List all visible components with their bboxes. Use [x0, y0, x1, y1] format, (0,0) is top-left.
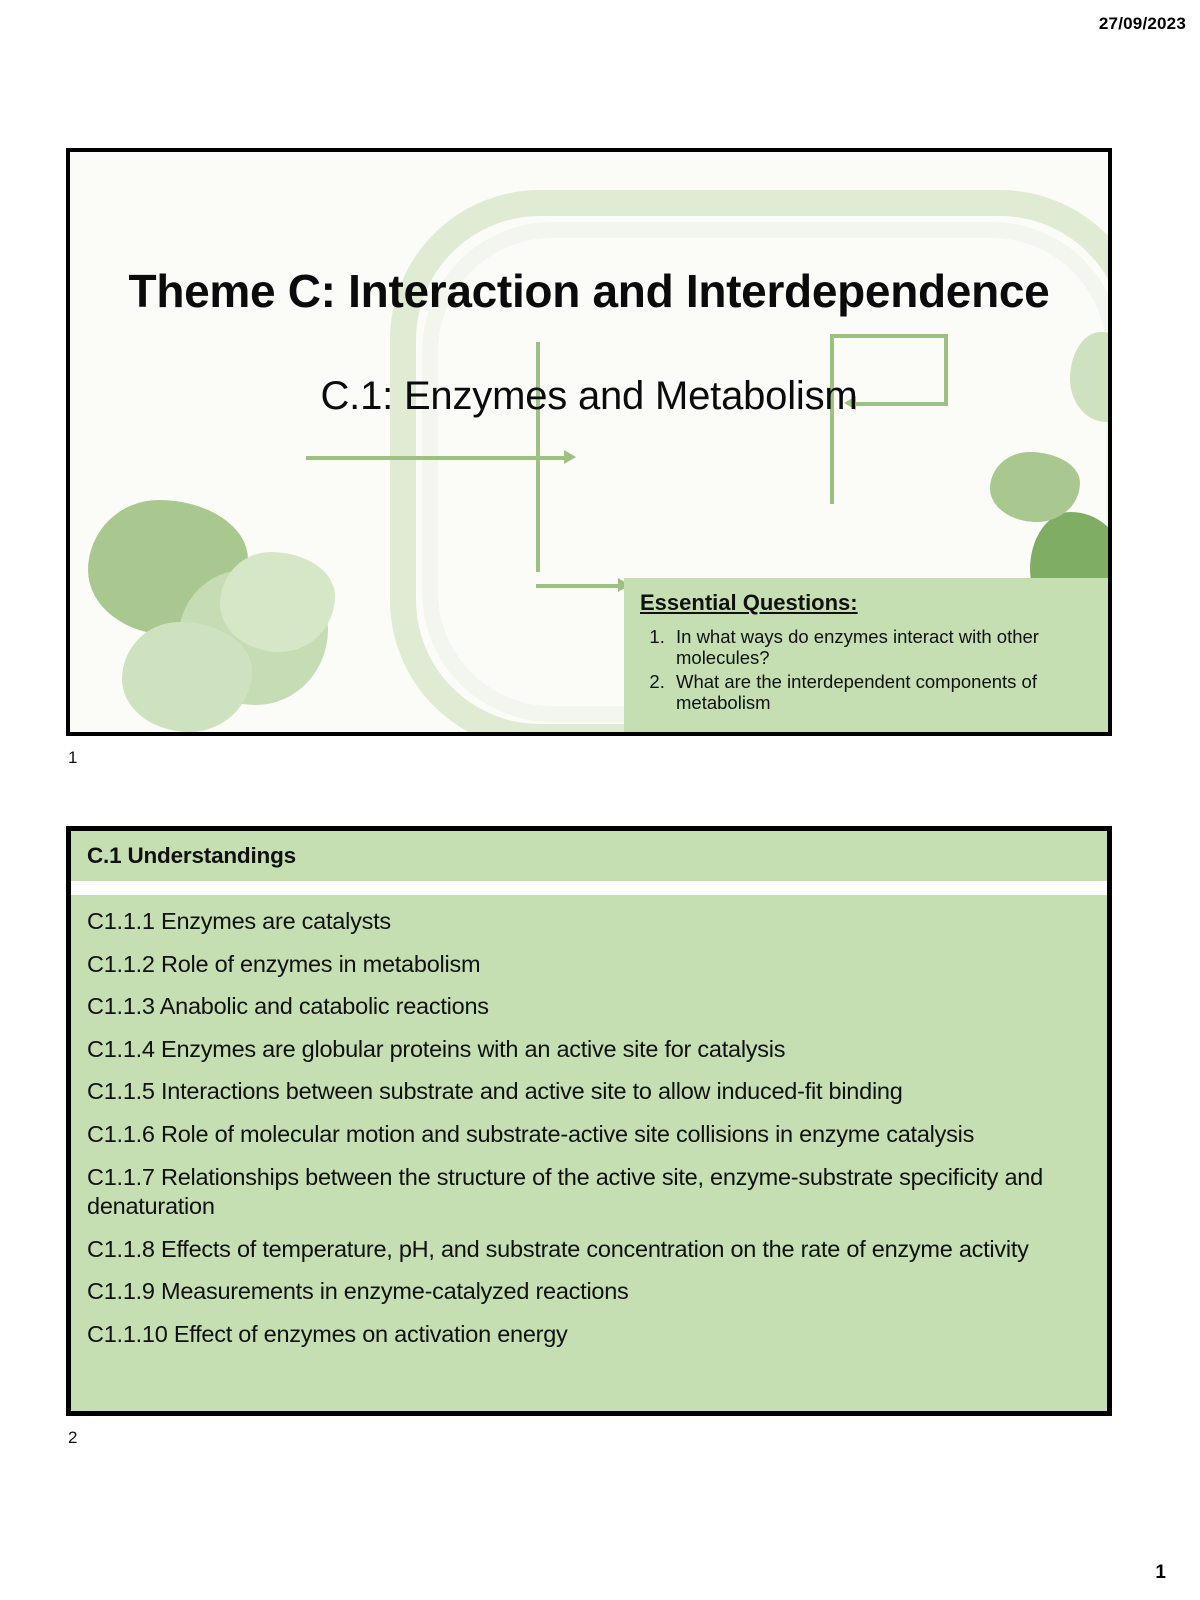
slide-2: C.1 Understandings C1.1.1 Enzymes are ca… [66, 826, 1112, 1416]
essential-questions-heading: Essential Questions: [640, 590, 1098, 616]
cycle-arrow-line [830, 338, 834, 504]
slide-2-number: 2 [68, 1428, 77, 1448]
understanding-item: C1.1.2 Role of enzymes in metabolism [87, 950, 1087, 980]
understanding-item: C1.1.10 Effect of enzymes on activation … [87, 1320, 1087, 1350]
essential-question-item: In what ways do enzymes interact with ot… [670, 626, 1098, 669]
header-body-divider [71, 881, 1107, 895]
essential-questions-box: Essential Questions: In what ways do enz… [624, 578, 1112, 734]
understanding-item: C1.1.1 Enzymes are catalysts [87, 907, 1087, 937]
understanding-item: C1.1.7 Relationships between the structu… [87, 1163, 1087, 1222]
page-number: 1 [1155, 1562, 1166, 1584]
pathway-arrow-line [536, 584, 620, 588]
slide-1-title: Theme C: Interaction and Interdependence [70, 264, 1108, 318]
slide-1-subtitle: C.1: Enzymes and Metabolism [70, 374, 1108, 419]
slide-1: Theme C: Interaction and Interdependence… [66, 148, 1112, 736]
understandings-header: C.1 Understandings [71, 831, 1107, 881]
slide-1-number: 1 [68, 748, 77, 768]
understanding-item: C1.1.8 Effects of temperature, pH, and s… [87, 1235, 1087, 1265]
essential-questions-list: In what ways do enzymes interact with ot… [640, 626, 1098, 714]
essential-question-item: What are the interdependent components o… [670, 671, 1098, 714]
understanding-item: C1.1.6 Role of molecular motion and subs… [87, 1120, 1087, 1150]
molecule-blob-icon [122, 622, 252, 732]
reaction-arrow-head-icon [564, 450, 576, 464]
reaction-arrow-line [306, 456, 566, 460]
understanding-item: C1.1.4 Enzymes are globular proteins wit… [87, 1035, 1087, 1065]
understandings-body: C1.1.1 Enzymes are catalysts C1.1.2 Role… [71, 895, 1107, 1416]
understanding-item: C1.1.5 Interactions between substrate an… [87, 1077, 1087, 1107]
understanding-item: C1.1.3 Anabolic and catabolic reactions [87, 992, 1087, 1022]
cycle-arrow-line [830, 334, 948, 338]
document-date: 27/09/2023 [1099, 14, 1186, 34]
understanding-item: C1.1.9 Measurements in enzyme-catalyzed … [87, 1277, 1087, 1307]
